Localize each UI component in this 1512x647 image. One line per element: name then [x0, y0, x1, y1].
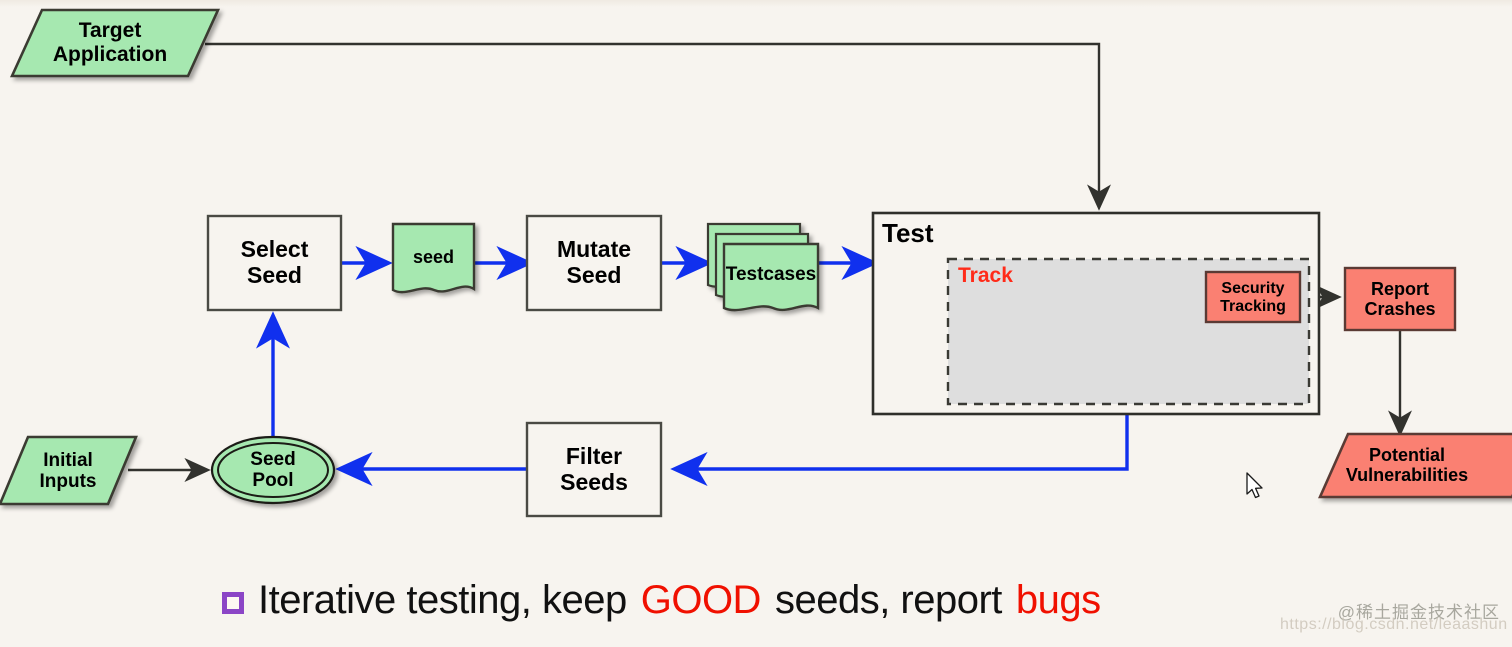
watermark-url: https://blog.csdn.net/leaashun — [1280, 616, 1508, 634]
node-testcases[interactable] — [708, 224, 818, 310]
caption-highlight-bugs: bugs — [1016, 578, 1101, 623]
node-filter-seeds[interactable] — [527, 423, 661, 516]
node-seed[interactable] — [393, 224, 474, 292]
mouse-pointer-icon — [1246, 472, 1266, 502]
diagram-svg — [0, 0, 1512, 647]
diagram-canvas: Target Application Initial Inputs Seed P… — [0, 0, 1512, 647]
node-report-crashes[interactable] — [1345, 268, 1455, 330]
edge-target-application-to-test — [205, 44, 1099, 206]
node-security-tracking[interactable] — [1206, 272, 1300, 322]
caption: Iterative testing, keep GOOD seeds, repo… — [222, 578, 1101, 623]
node-mutate-seed[interactable] — [527, 216, 661, 310]
node-potential-vulnerabilities[interactable] — [1320, 434, 1512, 497]
node-seed-pool[interactable] — [212, 437, 334, 503]
node-initial-inputs[interactable] — [0, 437, 136, 504]
node-target-application[interactable] — [12, 10, 218, 76]
caption-part-2: seeds, report — [775, 578, 1002, 623]
caption-part-1: Iterative testing, keep — [258, 578, 627, 623]
square-bullet-icon — [222, 592, 244, 614]
edge-test-to-filter-seeds — [677, 406, 1127, 469]
caption-highlight-good: GOOD — [641, 578, 761, 623]
node-select-seed[interactable] — [208, 216, 341, 310]
